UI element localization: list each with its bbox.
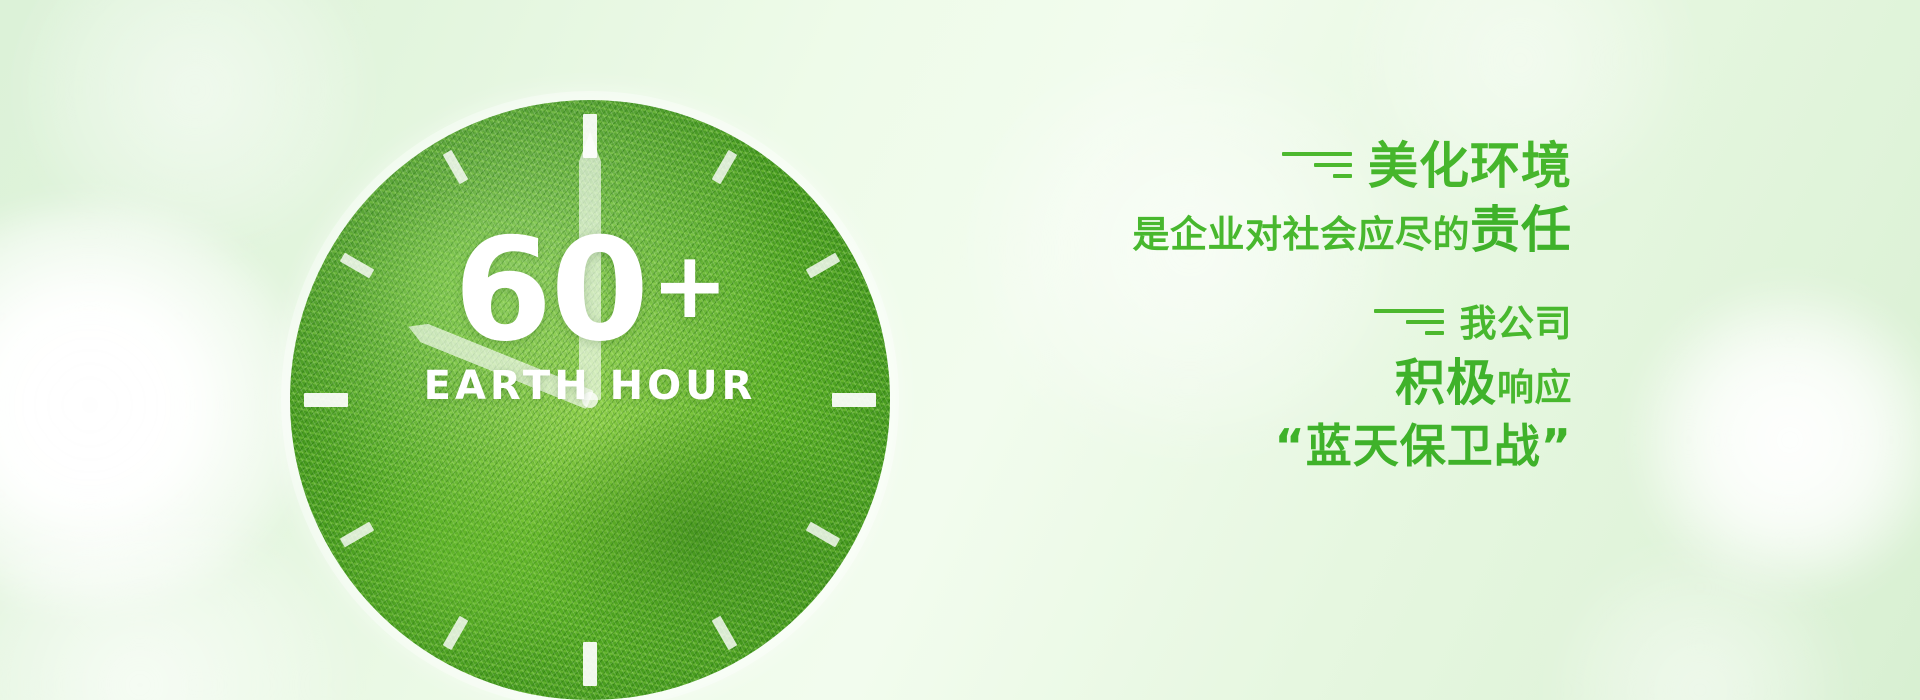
headline-row-one: 美化环境	[1133, 140, 1573, 193]
earth-hour-number-text: 60	[454, 208, 648, 373]
subline-two: 积极响应	[1133, 356, 1573, 411]
rule-long-icon	[1282, 152, 1352, 156]
earth-hour-logo: 60+ EARTH HOUR	[290, 226, 890, 409]
bokeh-light-bottom-left	[0, 520, 340, 700]
subline-one-lead: 是企业对社会应尽的	[1133, 213, 1471, 256]
copy-block-two: 我公司 积极响应 “蓝天保卫战”	[1133, 302, 1573, 471]
clock-tick	[328, 396, 593, 555]
copy-block-one: 美化环境 是企业对社会应尽的责任	[1133, 140, 1573, 258]
rule-medium-icon	[1314, 163, 1352, 167]
decorative-rules-two	[1374, 309, 1444, 339]
headline-one: 美化环境	[1368, 140, 1572, 193]
earth-hour-caption: EARTH HOUR	[290, 363, 890, 409]
subline-one: 是企业对社会应尽的责任	[1133, 203, 1573, 258]
rule-short-icon	[1425, 331, 1444, 335]
bokeh-light-bottom-right	[1560, 560, 1840, 700]
subline-two-tail: 响应	[1497, 366, 1572, 409]
rule-medium-icon	[1406, 320, 1444, 324]
earth-hour-banner: 60+ EARTH HOUR 美化环境 是企业对社会应尽的责任	[0, 0, 1920, 700]
rule-short-icon	[1333, 174, 1352, 178]
quote-slogan: “蓝天保卫战”	[1133, 421, 1573, 472]
decorative-rules-one	[1282, 152, 1352, 182]
marketing-copy: 美化环境 是企业对社会应尽的责任 我公司 积极响应 “蓝天保卫战”	[1133, 140, 1573, 471]
earth-hour-number: 60+	[290, 226, 890, 357]
bokeh-light-right	[1640, 290, 1920, 590]
rule-long-icon	[1374, 309, 1444, 313]
earth-hour-clock: 60+ EARTH HOUR	[290, 100, 890, 700]
subline-one-emphasis: 责任	[1470, 201, 1572, 259]
clock-tick	[585, 400, 595, 700]
bokeh-light-left	[0, 205, 310, 605]
headline-two: 我公司	[1460, 302, 1573, 346]
earth-hour-plus-sign: +	[651, 232, 726, 339]
headline-row-two: 我公司	[1133, 302, 1573, 346]
subline-two-emphasis: 积极	[1395, 354, 1497, 412]
